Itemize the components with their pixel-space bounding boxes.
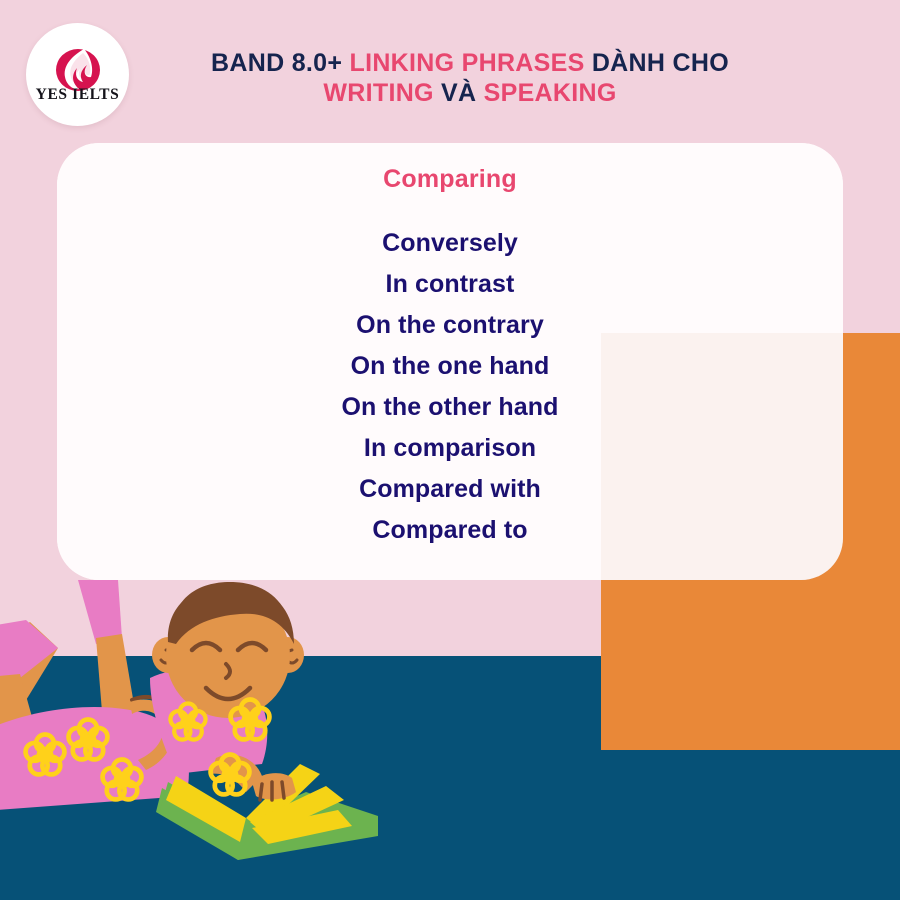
list-item: On the other hand <box>57 387 843 428</box>
title-segment-2: DÀNH CHO <box>592 49 729 77</box>
title-segment-4: WRITING <box>323 79 441 107</box>
list-item: Conversely <box>57 223 843 264</box>
title-segment-0: BAND 8.0+ <box>211 49 349 77</box>
title-segment-1: LINKING PHRASES <box>350 49 592 77</box>
page-title: BAND 8.0+ LINKING PHRASES DÀNH CHO WRITI… <box>170 48 770 108</box>
girl-reading-graphic <box>0 560 400 900</box>
list-item: On the one hand <box>57 346 843 387</box>
list-item: In comparison <box>57 428 843 469</box>
list-item: In contrast <box>57 264 843 305</box>
content-card: Comparing Conversely In contrast On the … <box>57 143 843 580</box>
linking-phrase-list: Conversely In contrast On the contrary O… <box>57 223 843 551</box>
list-item: On the contrary <box>57 305 843 346</box>
girl-reading-illustration <box>0 560 400 900</box>
list-item: Compared with <box>57 469 843 510</box>
poster-canvas: Comparing Conversely In contrast On the … <box>0 0 900 900</box>
card-heading: Comparing <box>57 165 843 194</box>
list-item: Compared to <box>57 510 843 551</box>
yes-ielts-logo: YES IELTS <box>26 23 129 126</box>
title-segment-6: SPEAKING <box>484 79 617 107</box>
logo-wordmark: YES IELTS <box>26 86 129 104</box>
title-segment-5: VÀ <box>441 79 484 107</box>
